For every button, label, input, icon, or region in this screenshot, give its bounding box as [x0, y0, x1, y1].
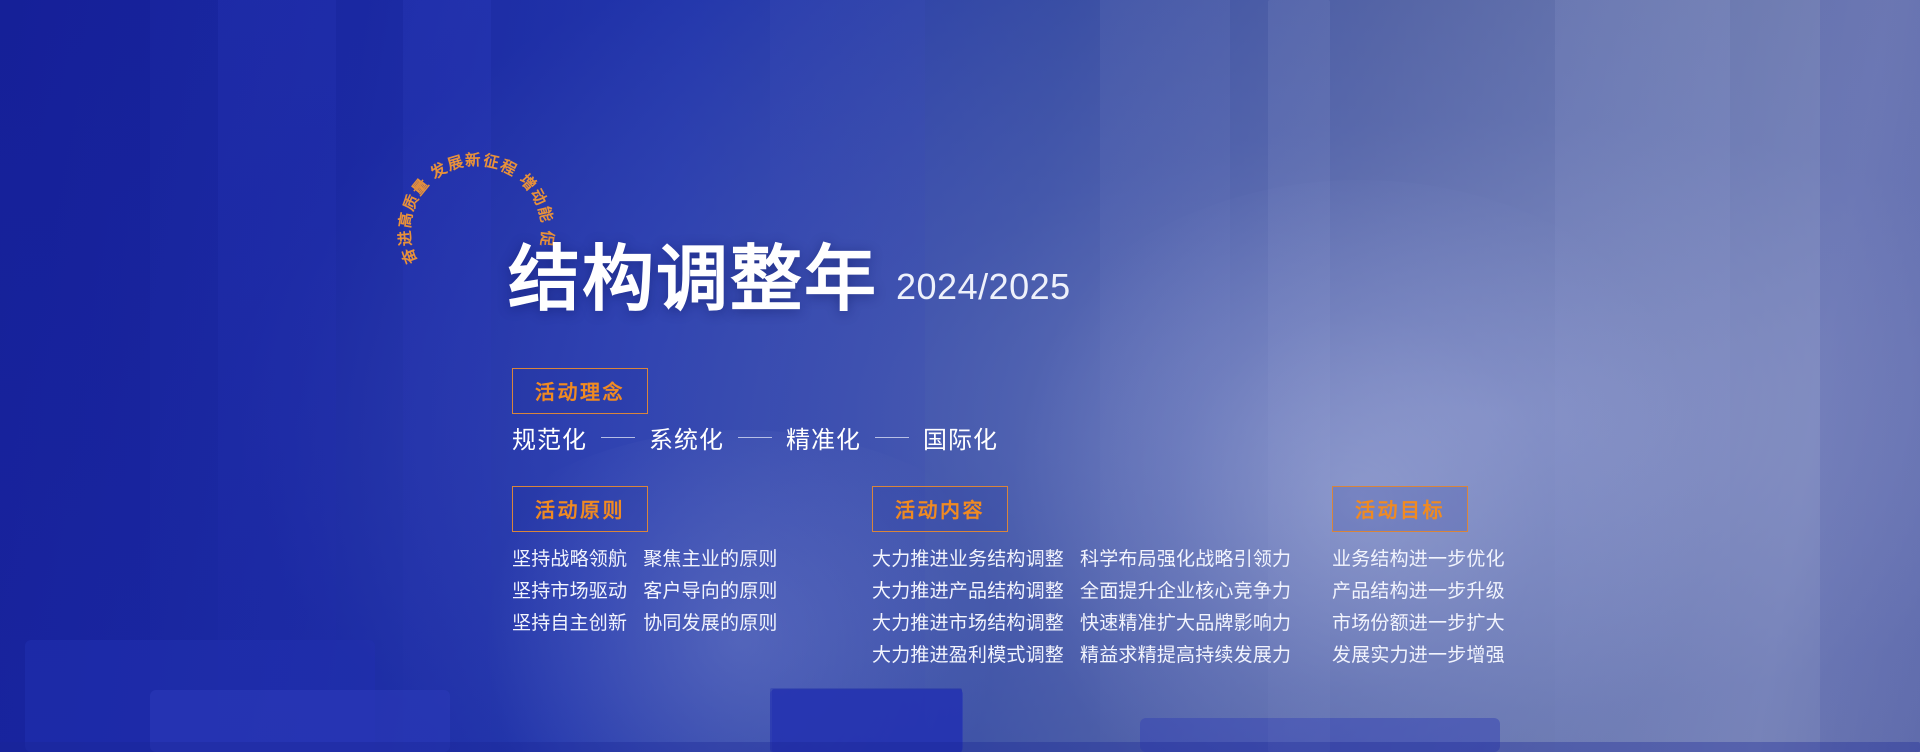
- column-badge-label: 活动内容: [895, 494, 985, 523]
- concept-keyword: 国际化: [923, 420, 998, 455]
- concept-keyword-list: 规范化系统化精准化国际化: [512, 420, 998, 455]
- column-badge-goals[interactable]: 活动目标: [1332, 486, 1468, 532]
- concept-keyword: 精准化: [786, 420, 861, 455]
- concept-separator: [875, 437, 909, 439]
- list-item: 坚持战略领航聚焦主业的原则: [512, 550, 778, 569]
- list-item: 发展实力进一步增强: [1332, 646, 1505, 665]
- list-item: 大力推进盈利模式调整精益求精提高持续发展力: [872, 646, 1291, 665]
- list-item: 业务结构进一步优化: [1332, 550, 1505, 569]
- list-item-primary: 大力推进市场结构调整: [872, 614, 1064, 633]
- concept-keyword: 规范化: [512, 420, 587, 455]
- column-badge-content[interactable]: 活动内容: [872, 486, 1008, 532]
- concept-badge[interactable]: 活动理念: [512, 368, 648, 414]
- list-item-primary: 大力推进盈利模式调整: [872, 646, 1064, 665]
- list-item-secondary: 聚焦主业的原则: [643, 550, 777, 569]
- column-badge-principles[interactable]: 活动原则: [512, 486, 648, 532]
- concept-separator: [601, 437, 635, 439]
- column-badge-label: 活动原则: [535, 494, 625, 523]
- detail-columns: 活动原则坚持战略领航聚焦主业的原则坚持市场驱动客户导向的原则坚持自主创新协同发展…: [0, 486, 1920, 686]
- concept-separator: [738, 437, 772, 439]
- column-principles: 活动原则坚持战略领航聚焦主业的原则坚持市场驱动客户导向的原则坚持自主创新协同发展…: [512, 486, 778, 646]
- list-item-primary: 坚持战略领航: [512, 550, 627, 569]
- column-list: 大力推进业务结构调整科学布局强化战略引领力大力推进产品结构调整全面提升企业核心竞…: [872, 550, 1291, 665]
- list-item-secondary: 科学布局强化战略引领力: [1080, 550, 1291, 569]
- list-item: 坚持自主创新协同发展的原则: [512, 614, 778, 633]
- list-item: 市场份额进一步扩大: [1332, 614, 1505, 633]
- list-item-primary: 业务结构进一步优化: [1332, 550, 1505, 569]
- list-item-secondary: 精益求精提高持续发展力: [1080, 646, 1291, 665]
- concept-badge-label: 活动理念: [535, 376, 625, 405]
- list-item: 大力推进产品结构调整全面提升企业核心竞争力: [872, 582, 1291, 601]
- column-badge-label: 活动目标: [1355, 494, 1445, 523]
- list-item: 坚持市场驱动客户导向的原则: [512, 582, 778, 601]
- page-title: 结构调整年: [508, 244, 878, 315]
- title-block: 结构调整年 2024/2025: [508, 244, 1071, 315]
- list-item-secondary: 快速精准扩大品牌影响力: [1080, 614, 1291, 633]
- list-item-primary: 大力推进业务结构调整: [872, 550, 1064, 569]
- list-item-primary: 市场份额进一步扩大: [1332, 614, 1505, 633]
- list-item-primary: 坚持自主创新: [512, 614, 627, 633]
- list-item-primary: 大力推进产品结构调整: [872, 582, 1064, 601]
- list-item-secondary: 客户导向的原则: [643, 582, 777, 601]
- list-item-primary: 产品结构进一步升级: [1332, 582, 1505, 601]
- column-list: 业务结构进一步优化产品结构进一步升级市场份额进一步扩大发展实力进一步增强: [1332, 550, 1505, 665]
- column-content: 活动内容大力推进业务结构调整科学布局强化战略引领力大力推进产品结构调整全面提升企…: [872, 486, 1291, 678]
- column-goals: 活动目标业务结构进一步优化产品结构进一步升级市场份额进一步扩大发展实力进一步增强: [1332, 486, 1505, 678]
- list-item: 产品结构进一步升级: [1332, 582, 1505, 601]
- list-item-secondary: 全面提升企业核心竞争力: [1080, 582, 1291, 601]
- list-item-primary: 发展实力进一步增强: [1332, 646, 1505, 665]
- concept-keyword: 系统化: [649, 420, 724, 455]
- year-range: 2024/2025: [896, 266, 1071, 315]
- promo-banner: 奋进高质量 发展新征程 增动能 促转型 结构调整年 2024/2025 活动理念…: [0, 0, 1920, 752]
- list-item: 大力推进市场结构调整快速精准扩大品牌影响力: [872, 614, 1291, 633]
- column-list: 坚持战略领航聚焦主业的原则坚持市场驱动客户导向的原则坚持自主创新协同发展的原则: [512, 550, 778, 633]
- list-item-primary: 坚持市场驱动: [512, 582, 627, 601]
- bg-block: [0, 742, 1920, 752]
- list-item-secondary: 协同发展的原则: [643, 614, 777, 633]
- list-item: 大力推进业务结构调整科学布局强化战略引领力: [872, 550, 1291, 569]
